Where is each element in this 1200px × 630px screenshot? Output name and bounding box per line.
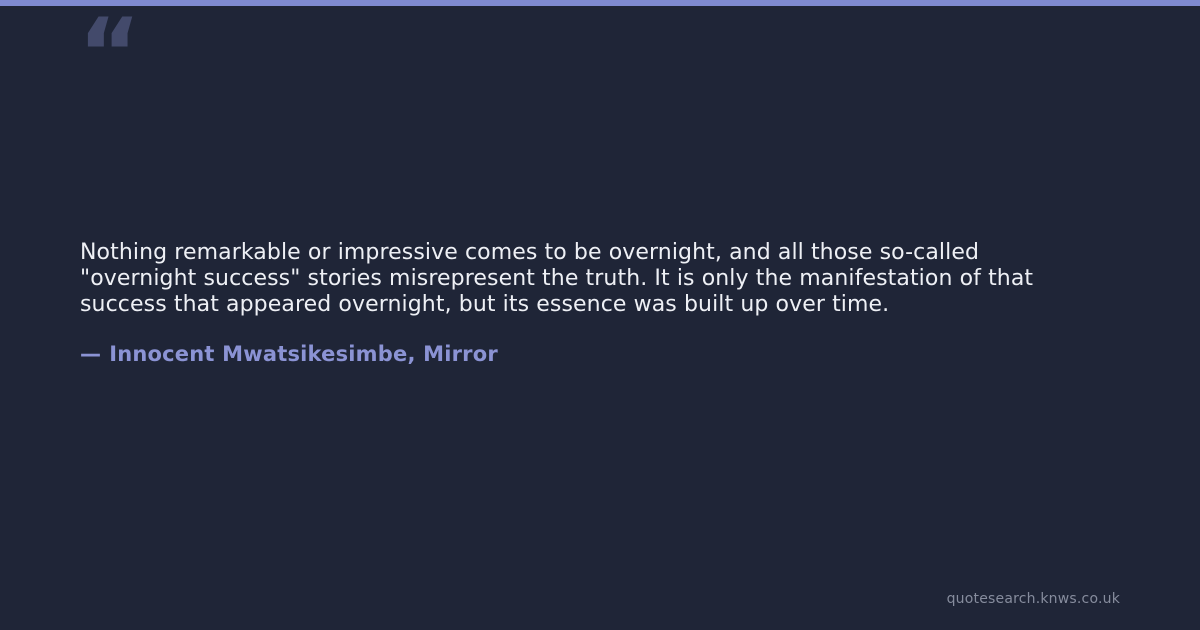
- opening-quotation-mark-icon: “: [78, 6, 139, 102]
- quote-attribution: —Innocent Mwatsikesimbe, Mirror: [80, 341, 498, 367]
- quote-card: “ Nothing remarkable or impressive comes…: [0, 0, 1200, 630]
- site-watermark: quotesearch.knws.co.uk: [947, 591, 1120, 607]
- quote-text: Nothing remarkable or impressive comes t…: [80, 240, 1080, 318]
- attribution-text: Innocent Mwatsikesimbe, Mirror: [109, 342, 498, 366]
- attribution-dash: —: [80, 342, 101, 366]
- top-accent-bar: [0, 0, 1200, 6]
